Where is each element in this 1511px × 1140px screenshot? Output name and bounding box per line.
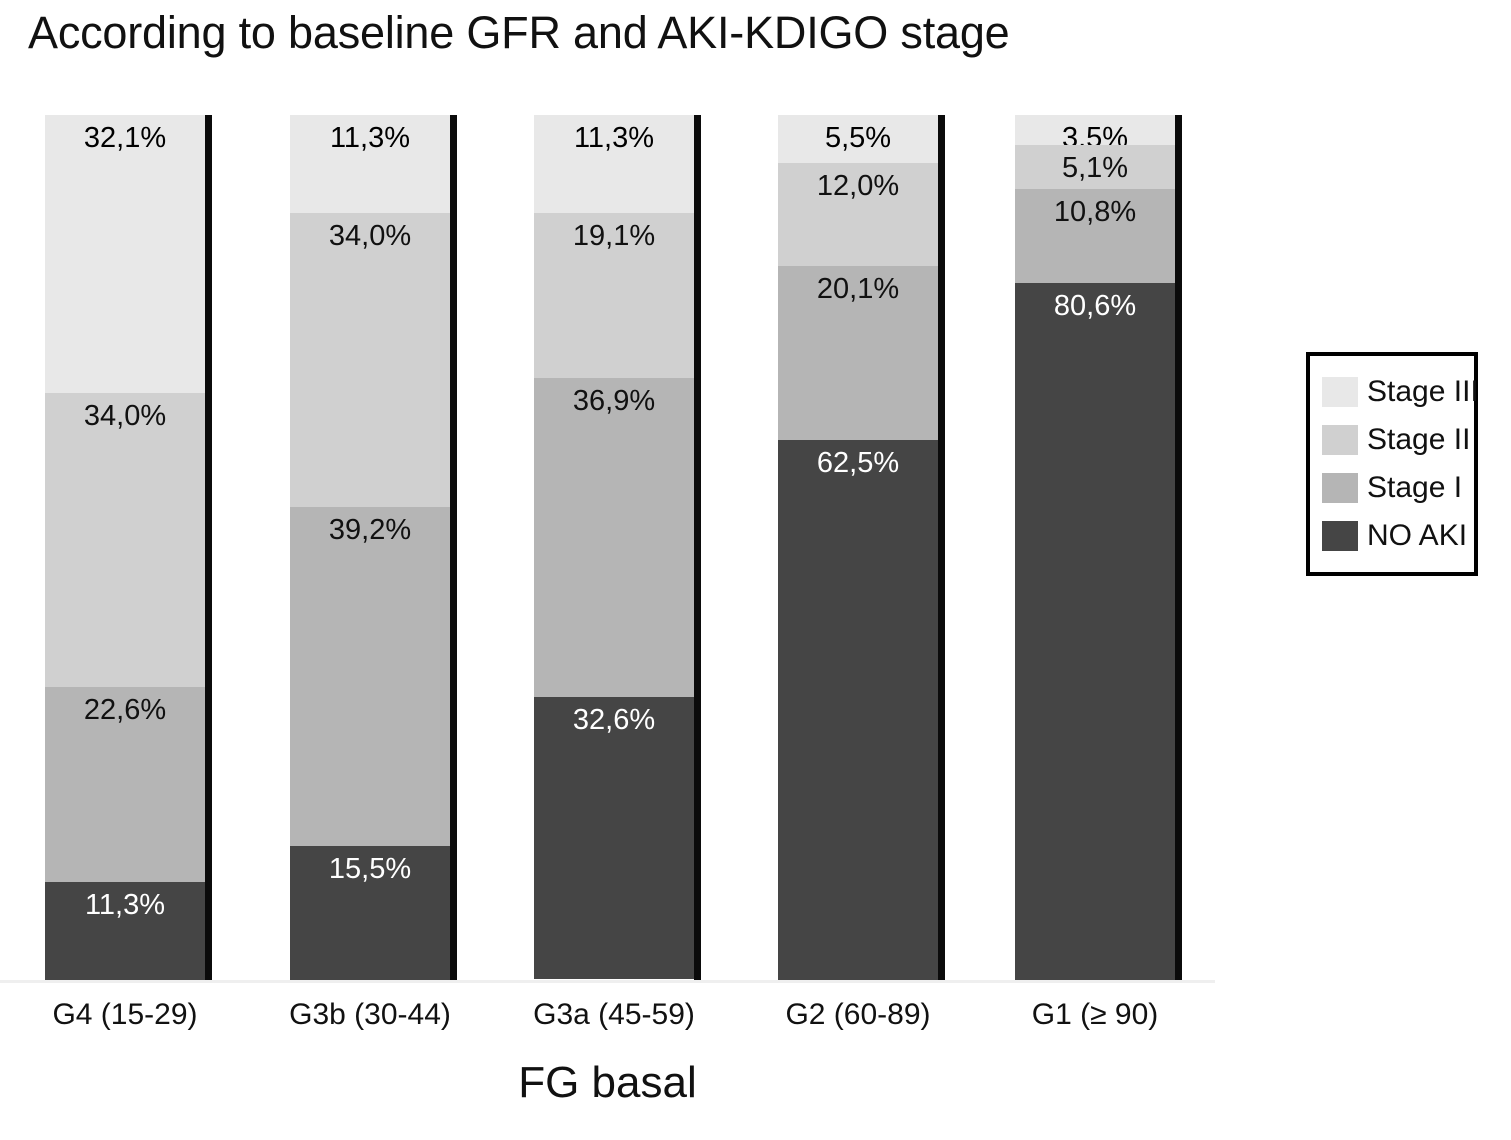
bar-group: 5,5%12,0%20,1%62,5% <box>778 115 938 980</box>
bar-segment[interactable]: 36,9% <box>534 378 694 697</box>
bar-shadow-edge <box>938 115 945 980</box>
bar-segment[interactable]: 22,6% <box>45 687 205 882</box>
bar-segment[interactable]: 34,0% <box>290 213 450 507</box>
bar-shadow-edge <box>694 115 701 980</box>
bar-group: 11,3%19,1%36,9%32,6% <box>534 115 694 980</box>
legend-item-stage-i[interactable]: Stage I <box>1322 464 1464 512</box>
bar-group: 32,1%34,0%22,6%11,3% <box>45 115 205 980</box>
bar-segment[interactable]: 3,5% <box>1015 115 1175 145</box>
bar-segment[interactable]: 12,0% <box>778 163 938 267</box>
bar-group: 11,3%34,0%39,2%15,5% <box>290 115 450 980</box>
x-axis-category-label: G2 (60-89) <box>743 995 973 1035</box>
bar-segment[interactable]: 80,6% <box>1015 283 1175 980</box>
legend-swatch-no-aki <box>1322 521 1358 551</box>
bar-segment[interactable]: 15,5% <box>290 846 450 980</box>
x-axis-category-label: G1 (≥ 90) <box>980 995 1210 1035</box>
x-axis-category-label: G3a (45-59) <box>499 995 729 1035</box>
bar-segment[interactable]: 11,3% <box>534 115 694 213</box>
legend-swatch-stage-iii <box>1322 377 1358 407</box>
bar-segment[interactable]: 5,5% <box>778 115 938 163</box>
legend-item-stage-iii[interactable]: Stage III <box>1322 368 1464 416</box>
bar-segment-value-label: 11,3% <box>45 888 205 922</box>
bar-segment-value-label: 36,9% <box>534 384 694 418</box>
bar-segment[interactable]: 20,1% <box>778 266 938 440</box>
legend-item-stage-ii[interactable]: Stage II <box>1322 416 1464 464</box>
legend-label-stage-ii: Stage II <box>1367 423 1470 457</box>
bar-segment[interactable]: 32,1% <box>45 115 205 393</box>
bar-segment-value-label: 62,5% <box>778 446 938 480</box>
bar-segment[interactable]: 11,3% <box>45 882 205 980</box>
legend-label-stage-i: Stage I <box>1367 471 1462 505</box>
x-axis-category-label: G3b (30-44) <box>255 995 485 1035</box>
x-axis-category-label: G4 (15-29) <box>10 995 240 1035</box>
bar-segment-value-label: 32,6% <box>534 703 694 737</box>
bar-segment-value-label: 11,3% <box>290 121 450 155</box>
bar-segment-value-label: 34,0% <box>290 219 450 253</box>
chart-legend: Stage III Stage II Stage I NO AKI <box>1306 352 1478 576</box>
x-axis-title: FG basal <box>0 1055 1215 1111</box>
bar-segment-value-label: 20,1% <box>778 272 938 306</box>
axis-baseline <box>0 980 1215 983</box>
bar-segment-value-label: 22,6% <box>45 693 205 727</box>
bar-segment-value-label: 5,5% <box>778 121 938 155</box>
bar-stack: 32,1%34,0%22,6%11,3% <box>45 115 205 980</box>
bar-segment[interactable]: 32,6% <box>534 697 694 979</box>
bar-segment-value-label: 39,2% <box>290 513 450 547</box>
bar-segment[interactable]: 10,8% <box>1015 189 1175 282</box>
bar-segment-value-label: 15,5% <box>290 852 450 886</box>
bar-shadow-edge <box>205 115 212 980</box>
bar-segment[interactable]: 34,0% <box>45 393 205 687</box>
bar-segment[interactable]: 5,1% <box>1015 145 1175 189</box>
legend-item-no-aki[interactable]: NO AKI <box>1322 512 1464 560</box>
bar-segment[interactable]: 39,2% <box>290 507 450 846</box>
bar-segment-value-label: 10,8% <box>1015 195 1175 229</box>
bar-segment-value-label: 80,6% <box>1015 289 1175 323</box>
bar-shadow-edge <box>1175 115 1182 980</box>
bar-segment[interactable]: 11,3% <box>290 115 450 213</box>
bar-segment-value-label: 11,3% <box>534 121 694 155</box>
bar-stack: 11,3%19,1%36,9%32,6% <box>534 115 694 980</box>
legend-label-no-aki: NO AKI <box>1367 519 1467 553</box>
bar-segment-value-label: 32,1% <box>45 121 205 155</box>
bar-segment[interactable]: 19,1% <box>534 213 694 378</box>
bar-stack: 11,3%34,0%39,2%15,5% <box>290 115 450 980</box>
legend-swatch-stage-i <box>1322 473 1358 503</box>
bar-stack: 3,5%5,1%10,8%80,6% <box>1015 115 1175 980</box>
bar-stack: 5,5%12,0%20,1%62,5% <box>778 115 938 980</box>
legend-label-stage-iii: Stage III <box>1367 375 1479 409</box>
bar-segment-value-label: 12,0% <box>778 169 938 203</box>
bar-segment[interactable]: 62,5% <box>778 440 938 980</box>
chart-title: According to baseline GFR and AKI-KDIGO … <box>28 6 1009 60</box>
bar-segment-value-label: 34,0% <box>45 399 205 433</box>
bar-shadow-edge <box>450 115 457 980</box>
plot-area: 32,1%34,0%22,6%11,3%11,3%34,0%39,2%15,5%… <box>0 115 1260 980</box>
bar-segment-value-label: 5,1% <box>1015 151 1175 185</box>
bar-group: 3,5%5,1%10,8%80,6% <box>1015 115 1175 980</box>
legend-swatch-stage-ii <box>1322 425 1358 455</box>
bar-segment-value-label: 19,1% <box>534 219 694 253</box>
